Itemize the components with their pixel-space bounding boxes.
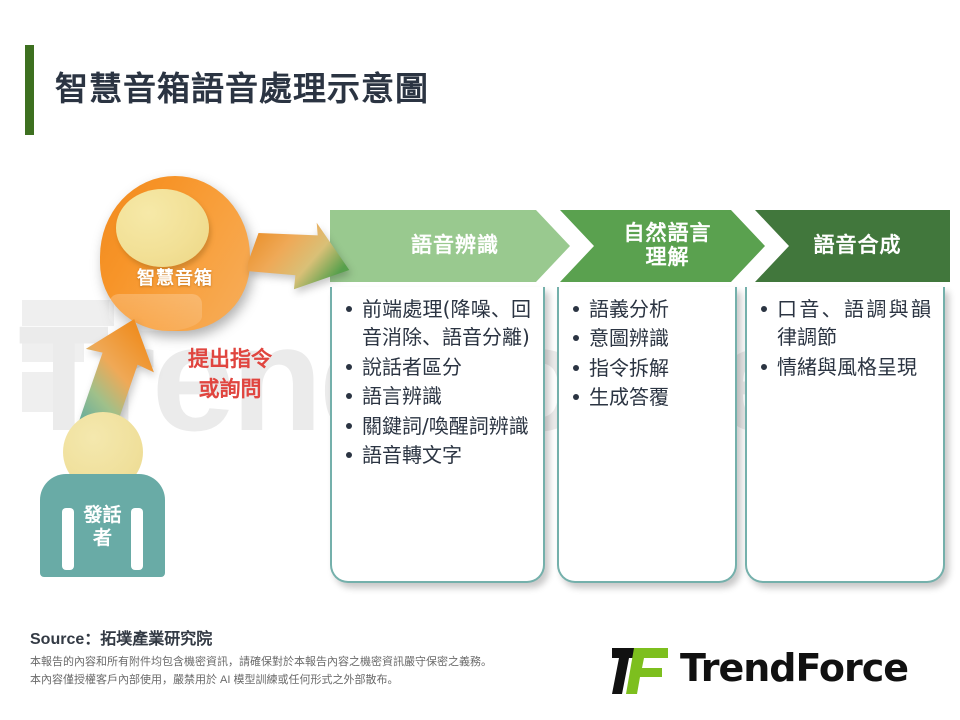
list-item: 指令拆解 <box>569 354 723 382</box>
stage-header-label: 語音合成 <box>814 234 902 258</box>
stage-item-list: 語義分析 意圖辨識 指令拆解 生成答覆 <box>569 295 723 412</box>
stage-card-speech-recognition: 前端處理(降噪、回音消除、語音分離) 說話者區分 語言辨識 關鍵詞/喚醒詞辨識 … <box>330 287 545 583</box>
stage-card-speech-synthesis: 口音、語調與韻律調節 情緒與風格呈現 <box>745 287 945 583</box>
disclaimer-line-1: 本報告的內容和所有附件均包含機密資訊，請確保對於本報告內容之機密資訊嚴守保密之義… <box>30 653 492 671</box>
stage-header-label: 自然語言 理解 <box>624 222 712 270</box>
stage-header-line2: 理解 <box>646 246 690 269</box>
person-label: 發話 者 <box>40 504 165 550</box>
prompt-line1: 提出指令 <box>150 345 310 375</box>
stage-item-list: 前端處理(降噪、回音消除、語音分離) 說話者區分 語言辨識 關鍵詞/喚醒詞辨識 … <box>342 295 531 469</box>
list-item: 關鍵詞/喚醒詞辨識 <box>342 412 531 440</box>
stage-item-list: 口音、語調與韻律調節 情緒與風格呈現 <box>757 295 931 381</box>
trendforce-logo: TrendForce <box>612 648 932 696</box>
disclaimer-line-2: 本內容僅授權客戶內部使用，嚴禁用於 AI 模型訓練或任何形式之外部散布。 <box>30 671 492 689</box>
list-item: 情緒與風格呈現 <box>757 353 931 381</box>
disclaimer-text: 本報告的內容和所有附件均包含機密資訊，請確保對於本報告內容之機密資訊嚴守保密之義… <box>30 653 492 689</box>
stage-header-speech-recognition[interactable]: 語音辨識 <box>330 210 570 282</box>
list-item: 語音轉文字 <box>342 441 531 469</box>
stage-header-label: 語音辨識 <box>411 234 499 258</box>
slide-canvas: TrendForce 智慧音箱語音處理示意圖 智慧音箱 <box>0 0 960 720</box>
speaker-label: 智慧音箱 <box>100 264 250 290</box>
prompt-annotation: 提出指令 或詢問 <box>150 345 310 406</box>
list-item: 意圖辨識 <box>569 324 723 352</box>
source-label: Source：拓墣產業研究院 <box>30 625 212 649</box>
person-label-line1: 發話 <box>40 504 165 527</box>
list-item: 語義分析 <box>569 295 723 323</box>
speaker-dial <box>116 189 209 267</box>
arrow-right-icon <box>248 218 353 313</box>
stage-header-line1: 自然語言 <box>624 222 712 245</box>
list-item: 前端處理(降噪、回音消除、語音分離) <box>342 295 531 352</box>
stage-header-speech-synthesis[interactable]: 語音合成 <box>755 210 950 282</box>
trendforce-logo-text: TrendForce <box>680 646 908 690</box>
stage-header-nlu[interactable]: 自然語言 理解 <box>560 210 765 282</box>
prompt-line2: 或詢問 <box>150 375 310 405</box>
speaker-person-graphic: 發話 者 <box>40 412 165 577</box>
list-item: 說話者區分 <box>342 353 531 381</box>
smart-speaker-graphic: 智慧音箱 <box>100 176 250 331</box>
list-item: 口音、語調與韻律調節 <box>757 295 931 352</box>
trendforce-logo-mark <box>612 648 672 694</box>
list-item: 語言辨識 <box>342 382 531 410</box>
list-item: 生成答覆 <box>569 383 723 411</box>
person-label-line2: 者 <box>40 527 165 550</box>
page-title: 智慧音箱語音處理示意圖 <box>55 62 429 110</box>
title-accent-bar <box>25 45 34 135</box>
stage-card-nlu: 語義分析 意圖辨識 指令拆解 生成答覆 <box>557 287 737 583</box>
